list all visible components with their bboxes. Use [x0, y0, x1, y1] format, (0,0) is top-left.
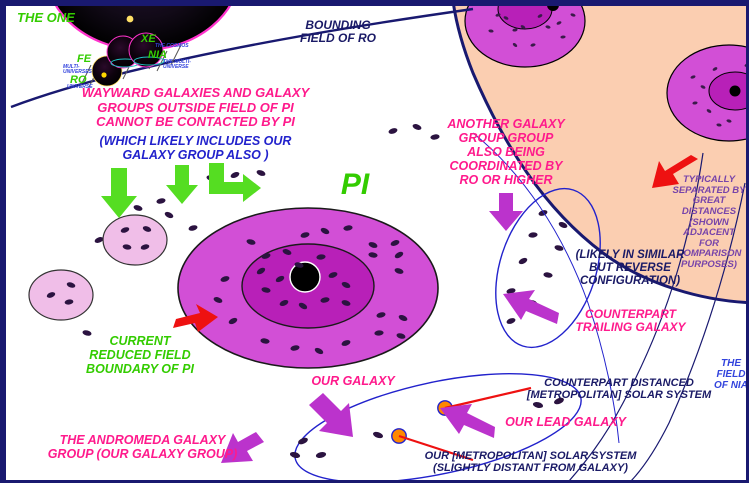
label-the-one: THE ONE: [17, 11, 75, 26]
label-counterpart-trailing-galaxy: COUNTERPART TRAILING GALAXY: [563, 308, 698, 335]
label-andromeda-group: THE ANDROMEDA GALAXY GROUP (OUR GALAXY G…: [35, 433, 250, 461]
label-entity-ro-sub: UNIVERSE: [67, 85, 97, 90]
label-entity-xe: XE: [141, 33, 156, 45]
label-our-galaxy: OUR GALAXY: [298, 374, 408, 388]
label-wayward-galaxies: WAYWARD GALAXIES AND GALAXY GROUPS OUTSI…: [63, 86, 328, 130]
green-arrows: [101, 163, 261, 218]
label-bounding-field: BOUNDING FIELD OF RO: [263, 19, 413, 46]
label-entity-nia-sub: THE MULTI-UNIVERSE: [163, 60, 195, 71]
label-current-reduced-boundary: CURRENT REDUCED FIELD BOUNDARY OF PI: [75, 334, 205, 376]
diagram-canvas: THE ONE BOUNDING FIELD OF RO WAYWARD GAL…: [0, 0, 749, 483]
pi-galaxy-group: [178, 208, 438, 368]
label-counterpart-solar-system: COUNTERPART DISTANCED [METROPOLITAN] SOL…: [524, 377, 714, 402]
label-pi: PI: [325, 168, 385, 202]
label-another-galaxy-group: ANOTHER GALAXY GROUP GROUP ALSO BEING CO…: [431, 117, 581, 187]
label-field-of-nia: THE FIELD OF NIA: [710, 358, 749, 392]
label-our-solar-system: OUR [METROPOLITAN] SOLAR SYSTEM (SLIGHTL…: [413, 450, 648, 475]
label-wayward-paren: (WHICH LIKELY INCLUDES OUR GALAXY GROUP …: [63, 134, 328, 162]
label-our-lead-galaxy: OUR LEAD GALAXY: [493, 415, 638, 429]
wayward-galaxy-group-ellipses: [29, 215, 167, 320]
label-likely-reverse: (LIKELY IN SIMILAR BUT REVERSE CONFIGURA…: [566, 249, 694, 288]
diagram-artwork: [3, 3, 749, 483]
